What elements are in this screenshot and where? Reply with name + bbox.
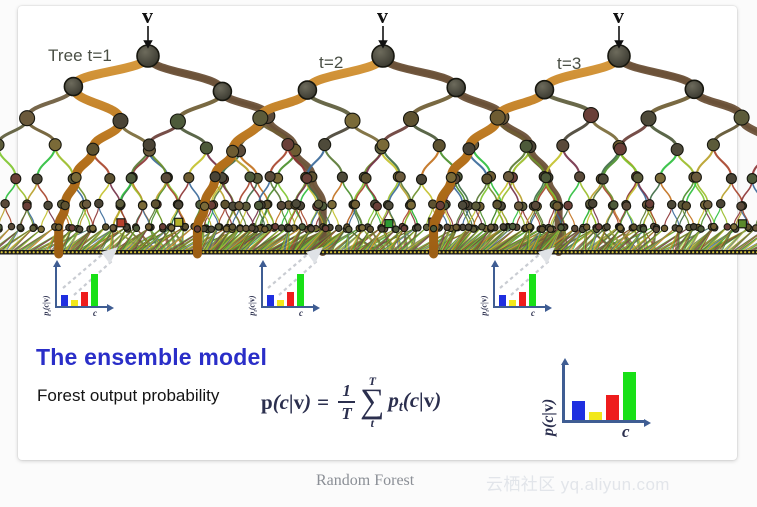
formula-summation: T ∑ t [360,375,384,428]
formula-equals: = [317,390,329,415]
formula-fraction-bar [338,401,355,403]
tree-2-leaf-histogram: pt(c|v)c [239,264,317,319]
histogram-bar [499,295,506,306]
histogram-y-axis-arrow [259,260,267,267]
histogram-bar [277,300,284,306]
formula-fraction-denominator: T [338,405,354,422]
histogram-y-axis-label: pt(c|v) [41,295,53,315]
histogram-bar [297,274,304,306]
histogram-x-axis-arrow [107,304,114,312]
slide-caption: Random Forest [316,472,414,490]
formula-fraction-numerator: 1 [339,382,354,399]
histogram-y-axis-arrow [561,358,569,365]
histogram-x-axis-arrow [644,419,651,427]
histogram-bar [572,401,585,420]
ensemble-model-title: The ensemble model [36,344,267,371]
histogram-bar [61,295,68,306]
histogram-y-axis-label: pt(c|v) [479,295,491,315]
histogram-bar [529,274,536,306]
histogram-x-axis-label: c [622,422,630,442]
histogram-bar [606,395,619,420]
tree-1-leaf-histogram: pt(c|v)c [33,264,111,319]
histogram-x-axis [261,306,313,308]
histogram-y-axis [261,266,263,306]
histogram-bar [519,292,526,306]
histogram-y-axis [55,266,57,306]
formula-fraction: 1 T [338,382,355,423]
formula-sigma-glyph: ∑ [360,387,384,416]
watermark: 云栖社区 yq.aliyun.com [486,470,670,495]
forest-output-histogram: p(c|v)c [528,358,653,443]
formula-lhs: p(c|v) [261,390,311,415]
formula-rhs: pt(c|v) [388,388,441,416]
formula-sum-lower: t [371,417,374,429]
histogram-bar [623,372,636,420]
histogram-bar [509,300,516,306]
histogram-y-axis-label: p(c|v) [540,399,558,436]
histogram-y-axis [562,364,565,420]
histogram-y-axis-label: pt(c|v) [247,295,259,315]
forest-output-probability-label: Forest output probability [37,386,219,406]
histogram-y-axis-arrow [491,260,499,267]
histogram-x-axis [493,306,545,308]
histogram-x-axis-label: c [531,308,535,318]
histogram-bar [81,292,88,306]
histogram-bar [71,300,78,306]
histogram-x-axis [55,306,107,308]
histogram-x-axis [562,420,644,423]
histogram-bar [267,295,274,306]
histogram-bar [287,292,294,306]
histogram-x-axis-label: c [299,308,303,318]
histogram-x-axis-label: c [93,308,97,318]
histogram-x-axis-arrow [545,304,552,312]
histogram-y-axis [493,266,495,306]
slide-stage: v v v Tree t=1 t=2 t=3 pt(c|v)c pt(c|v)c… [0,0,757,507]
tree-3-leaf-histogram: pt(c|v)c [471,264,549,319]
forest-output-formula: p(c|v) = 1 T T ∑ t pt(c|v) [261,374,441,430]
histogram-bar [589,412,602,420]
histogram-y-axis-arrow [53,260,61,267]
histogram-x-axis-arrow [313,304,320,312]
histogram-bar [91,274,98,306]
